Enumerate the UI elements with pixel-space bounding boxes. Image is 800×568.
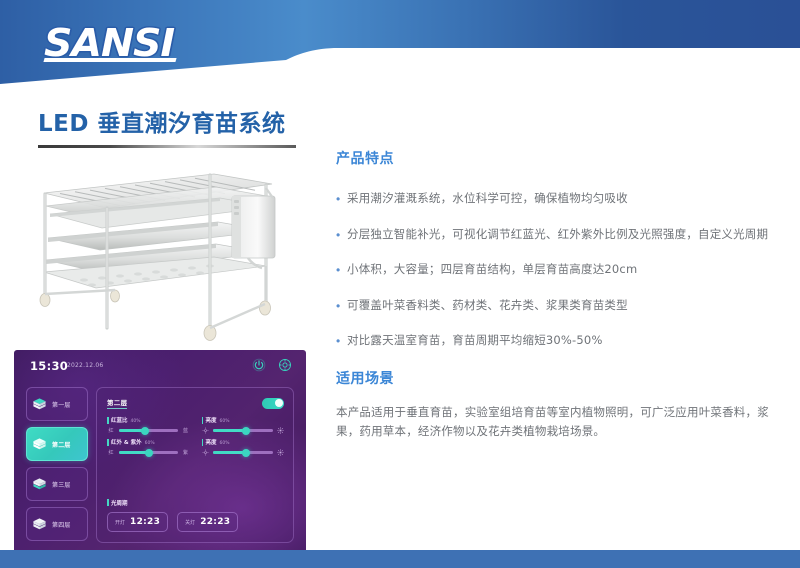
seedling-rack-illustration — [14, 148, 319, 344]
slider-value: 60% — [145, 441, 155, 446]
layer-label: 第四层 — [52, 520, 71, 529]
photoperiod-caption: 光周期 — [107, 499, 238, 507]
layers-icon — [32, 437, 47, 452]
layers-icon — [32, 517, 47, 532]
slider-left-label: 红 — [107, 449, 115, 456]
slider-brightness-1: 亮度 60% — [202, 416, 285, 434]
feature-text: 分层独立智能补光，可视化调节红蓝光、红外紫外比例及光照强度，自定义光周期 — [347, 226, 768, 245]
slider-caption: 红外 & 紫外 60% — [107, 438, 190, 446]
layer-settings-card: 第二层 红蓝比 40% 红 蓝 — [96, 387, 294, 543]
slider-right-label: 紫 — [182, 449, 190, 456]
slider-name: 红外 & 紫外 — [111, 438, 142, 446]
card-title: 第二层 — [107, 397, 127, 409]
feature-item: • 对比露天温室育苗，育苗周期平均缩短30%-50% — [336, 332, 788, 351]
feature-item: • 分层独立智能补光，可视化调节红蓝光、红外紫外比例及光照强度，自定义光周期 — [336, 226, 788, 245]
feature-item: • 可覆盖叶菜香料类、药材类、花卉类、浆果类育苗类型 — [336, 297, 788, 316]
layer-button-1[interactable]: 第一层 — [26, 387, 88, 421]
power-icon[interactable] — [252, 358, 266, 372]
slider-name: 红蓝比 — [111, 416, 128, 424]
chip-label: 关灯 — [185, 519, 195, 526]
slider-value: 60% — [220, 419, 230, 424]
slider-caption: 亮度 60% — [202, 416, 285, 424]
slider-row[interactable] — [202, 449, 285, 456]
layer-button-4[interactable]: 第四层 — [26, 507, 88, 541]
scenarios-heading: 适用场景 — [336, 368, 788, 388]
page-title: LED 垂直潮汐育苗系统 — [38, 104, 296, 138]
slider-value: 40% — [131, 419, 141, 424]
slider-row[interactable] — [202, 427, 285, 434]
dim-sun-icon — [202, 427, 209, 434]
slider-knob[interactable] — [145, 449, 153, 457]
panel-topbar: 15:30 2022.12.06 — [14, 350, 306, 382]
chip-label: 开灯 — [115, 519, 125, 526]
slider-name: 亮度 — [206, 416, 217, 424]
features-heading: 产品特点 — [336, 148, 788, 168]
slider-caption: 亮度 60% — [202, 438, 285, 446]
bullet-icon: • — [336, 261, 347, 280]
slider-left-label: 红 — [107, 427, 115, 434]
slider-right-label: 蓝 — [182, 427, 190, 434]
slider-name: 亮度 — [206, 438, 217, 446]
bullet-icon: • — [336, 190, 347, 209]
photoperiod-chips: 开灯 12:23 关灯 22:23 — [107, 512, 238, 532]
slider-ir-uv: 红外 & 紫外 60% 红 紫 — [107, 438, 190, 456]
layer-power-toggle[interactable] — [262, 398, 284, 409]
bright-sun-icon — [277, 427, 284, 434]
slider-track[interactable] — [213, 451, 274, 454]
bullet-icon: • — [336, 226, 347, 245]
product-datasheet-page: SANSI LED 垂直潮汐育苗系统 — [0, 0, 800, 568]
slider-track[interactable] — [119, 429, 178, 432]
layer-button-3[interactable]: 第三层 — [26, 467, 88, 501]
content-column: 产品特点 • 采用潮汐灌溉系统，水位科学可控，确保植物均匀吸收 • 分层独立智能… — [336, 148, 788, 440]
panel-date: 2022.12.06 — [67, 362, 103, 369]
slider-value: 60% — [220, 441, 230, 446]
page-header: SANSI — [0, 0, 800, 90]
slider-row[interactable]: 红 蓝 — [107, 427, 190, 434]
layer-label: 第二层 — [52, 440, 71, 449]
slider-knob[interactable] — [242, 427, 250, 435]
layer-label: 第一层 — [52, 400, 71, 409]
slider-red-blue-ratio: 红蓝比 40% 红 蓝 — [107, 416, 190, 434]
panel-icon-group — [252, 358, 292, 372]
layers-icon — [32, 477, 47, 492]
feature-text: 可覆盖叶菜香料类、药材类、花卉类、浆果类育苗类型 — [347, 297, 628, 316]
slider-track[interactable] — [119, 451, 178, 454]
dim-sun-icon — [202, 449, 209, 456]
light-on-time[interactable]: 开灯 12:23 — [107, 512, 168, 532]
layers-icon — [32, 397, 47, 412]
photoperiod-label: 光周期 — [111, 499, 128, 507]
bullet-icon: • — [336, 332, 347, 351]
slider-brightness-2: 亮度 60% — [202, 438, 285, 456]
slider-knob[interactable] — [242, 449, 250, 457]
chip-value: 22:23 — [200, 517, 230, 527]
slider-grid: 红蓝比 40% 红 蓝 亮度 — [107, 416, 284, 456]
photoperiod-block: 光周期 开灯 12:23 关灯 22:23 — [107, 499, 238, 532]
scenarios-body: 本产品适用于垂直育苗，实验室组培育苗等室内植物照明，可广泛应用叶菜香料，浆果，药… — [336, 403, 781, 440]
layer-label: 第三层 — [52, 480, 71, 489]
logo-underbar — [43, 58, 176, 62]
slider-fill — [213, 429, 246, 432]
controller-ui-screenshot: 15:30 2022.12.06 — [14, 350, 306, 553]
light-off-time[interactable]: 关灯 22:23 — [177, 512, 238, 532]
bullet-icon: • — [336, 297, 347, 316]
slider-knob[interactable] — [141, 427, 149, 435]
feature-text: 小体积，大容量；四层育苗结构，单层育苗高度达20cm — [347, 261, 637, 280]
layer-selector: 第一层 第二层 第三 — [26, 387, 88, 541]
feature-item: • 小体积，大容量；四层育苗结构，单层育苗高度达20cm — [336, 261, 788, 280]
page-footer — [0, 550, 800, 568]
page-title-block: LED 垂直潮汐育苗系统 — [38, 104, 296, 150]
features-list: • 采用潮汐灌溉系统，水位科学可控，确保植物均匀吸收 • 分层独立智能补光，可视… — [336, 190, 788, 351]
slider-track[interactable] — [213, 429, 274, 432]
panel-clock: 15:30 — [30, 359, 68, 373]
bright-sun-icon — [277, 449, 284, 456]
slider-caption: 红蓝比 40% — [107, 416, 190, 424]
gear-icon[interactable] — [278, 358, 292, 372]
card-header: 第二层 — [107, 396, 284, 410]
layer-button-2[interactable]: 第二层 — [26, 427, 88, 461]
feature-text: 采用潮汐灌溉系统，水位科学可控，确保植物均匀吸收 — [347, 190, 628, 209]
chip-value: 12:23 — [130, 517, 160, 527]
feature-text: 对比露天温室育苗，育苗周期平均缩短30%-50% — [347, 332, 603, 351]
feature-item: • 采用潮汐灌溉系统，水位科学可控，确保植物均匀吸收 — [336, 190, 788, 209]
slider-row[interactable]: 红 紫 — [107, 449, 190, 456]
slider-fill — [213, 451, 246, 454]
product-photo — [14, 148, 319, 344]
